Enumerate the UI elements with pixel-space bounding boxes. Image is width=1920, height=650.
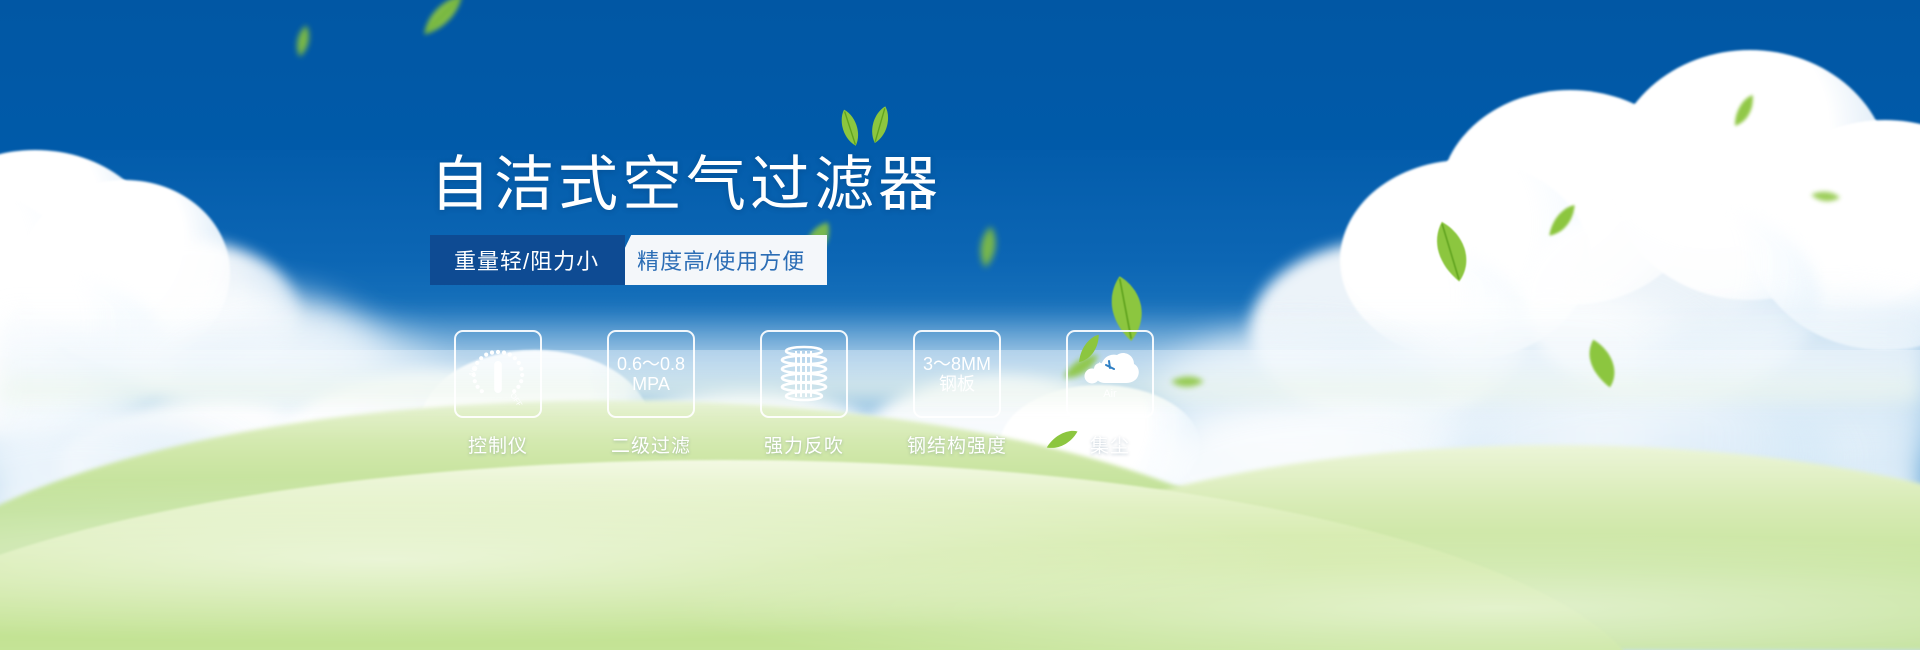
steel-plate-text-icon: 3～8MM 钢板 xyxy=(913,330,1001,418)
steel-material: 钢板 xyxy=(939,374,975,394)
control-dial-icon: NO OFF xyxy=(454,330,542,418)
feature-caption: 强力反吹 xyxy=(764,431,844,458)
feature-icon-row: NO OFF 控制仪 0.6～0.8 MPA 二级过滤 xyxy=(438,330,1170,458)
feature-caption: 二级过滤 xyxy=(611,431,691,458)
feature-caption: 集尘 xyxy=(1090,431,1130,458)
filter-cartridge-icon xyxy=(760,330,848,418)
tag-weight-resistance[interactable]: 重量轻/阻力小 xyxy=(430,235,625,285)
banner-stage: 自洁式空气过滤器 重量轻/阻力小 精度高/使用方便 xyxy=(0,0,1920,650)
steel-thickness: 3～8MM xyxy=(923,354,991,374)
feature-item-filter[interactable]: 0.6～0.8 MPA 二级过滤 xyxy=(591,330,711,458)
pressure-unit: MPA xyxy=(632,374,670,394)
banner-content: 自洁式空气过滤器 重量轻/阻力小 精度高/使用方便 xyxy=(0,0,1920,650)
feature-item-steel[interactable]: 3～8MM 钢板 钢结构强度 xyxy=(897,330,1017,458)
feature-caption: 控制仪 xyxy=(468,431,528,458)
tag-precision-ease[interactable]: 精度高/使用方便 xyxy=(607,235,827,285)
feature-item-blowback[interactable]: 强力反吹 xyxy=(744,330,864,458)
feature-item-control[interactable]: NO OFF 控制仪 xyxy=(438,330,558,458)
air-label: Air xyxy=(1103,388,1117,400)
air-cloud-icon: Air xyxy=(1066,330,1154,418)
pressure-value: 0.6～0.8 xyxy=(617,354,685,374)
svg-text:OFF: OFF xyxy=(508,391,524,405)
feature-caption: 钢结构强度 xyxy=(907,431,1007,458)
svg-text:NO: NO xyxy=(467,364,480,378)
pressure-text-icon: 0.6～0.8 MPA xyxy=(607,330,695,418)
page-title: 自洁式空气过滤器 xyxy=(430,136,942,223)
tag-bar: 重量轻/阻力小 精度高/使用方便 xyxy=(430,235,827,285)
feature-item-dust[interactable]: Air 集尘 xyxy=(1050,330,1170,458)
